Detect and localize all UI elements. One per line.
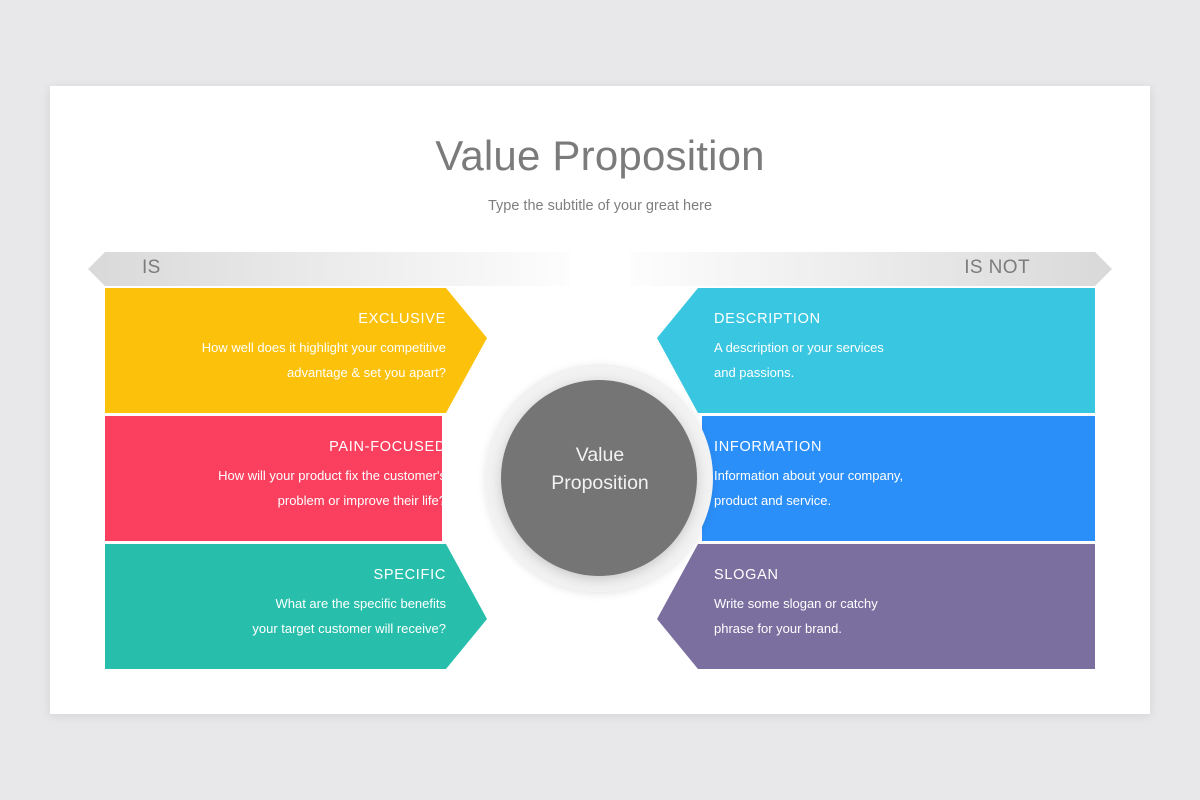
block-specific[interactable]: SPECIFIC What are the specific benefits … <box>110 567 446 641</box>
block-line: your target customer will receive? <box>110 616 446 641</box>
block-pain-focused[interactable]: PAIN-FOCUSED How will your product fix t… <box>110 439 446 513</box>
block-line: and passions. <box>714 360 1074 385</box>
block-title: INFORMATION <box>714 439 1074 456</box>
block-line: How will your product fix the customer's <box>110 463 446 488</box>
center-label-line2: Proposition <box>525 469 675 497</box>
block-line: A description or your services <box>714 335 1074 360</box>
center-label-line1: Value <box>525 441 675 469</box>
block-line: How well does it highlight your competit… <box>110 335 446 360</box>
block-line: Information about your company, <box>714 463 1074 488</box>
block-line: advantage & set you apart? <box>110 360 446 385</box>
center-circle-label[interactable]: Value Proposition <box>525 441 675 497</box>
block-title: SLOGAN <box>714 567 1074 584</box>
block-line: What are the specific benefits <box>110 591 446 616</box>
band-is-not <box>630 252 1112 286</box>
band-label-is: IS <box>142 257 161 279</box>
block-line: Write some slogan or catchy <box>714 591 1074 616</box>
block-description[interactable]: DESCRIPTION A description or your servic… <box>714 311 1074 385</box>
block-title: SPECIFIC <box>110 567 446 584</box>
block-title: EXCLUSIVE <box>110 311 446 328</box>
block-exclusive[interactable]: EXCLUSIVE How well does it highlight you… <box>110 311 446 385</box>
block-information[interactable]: INFORMATION Information about your compa… <box>714 439 1074 513</box>
block-line: problem or improve their life? <box>110 488 446 513</box>
band-label-is-not: IS NOT <box>930 257 1030 279</box>
block-line: phrase for your brand. <box>714 616 1074 641</box>
slide-canvas: Value Proposition Type the subtitle of y… <box>50 86 1150 714</box>
block-title: DESCRIPTION <box>714 311 1074 328</box>
block-slogan[interactable]: SLOGAN Write some slogan or catchy phras… <box>714 567 1074 641</box>
block-line: product and service. <box>714 488 1074 513</box>
block-title: PAIN-FOCUSED <box>110 439 446 456</box>
